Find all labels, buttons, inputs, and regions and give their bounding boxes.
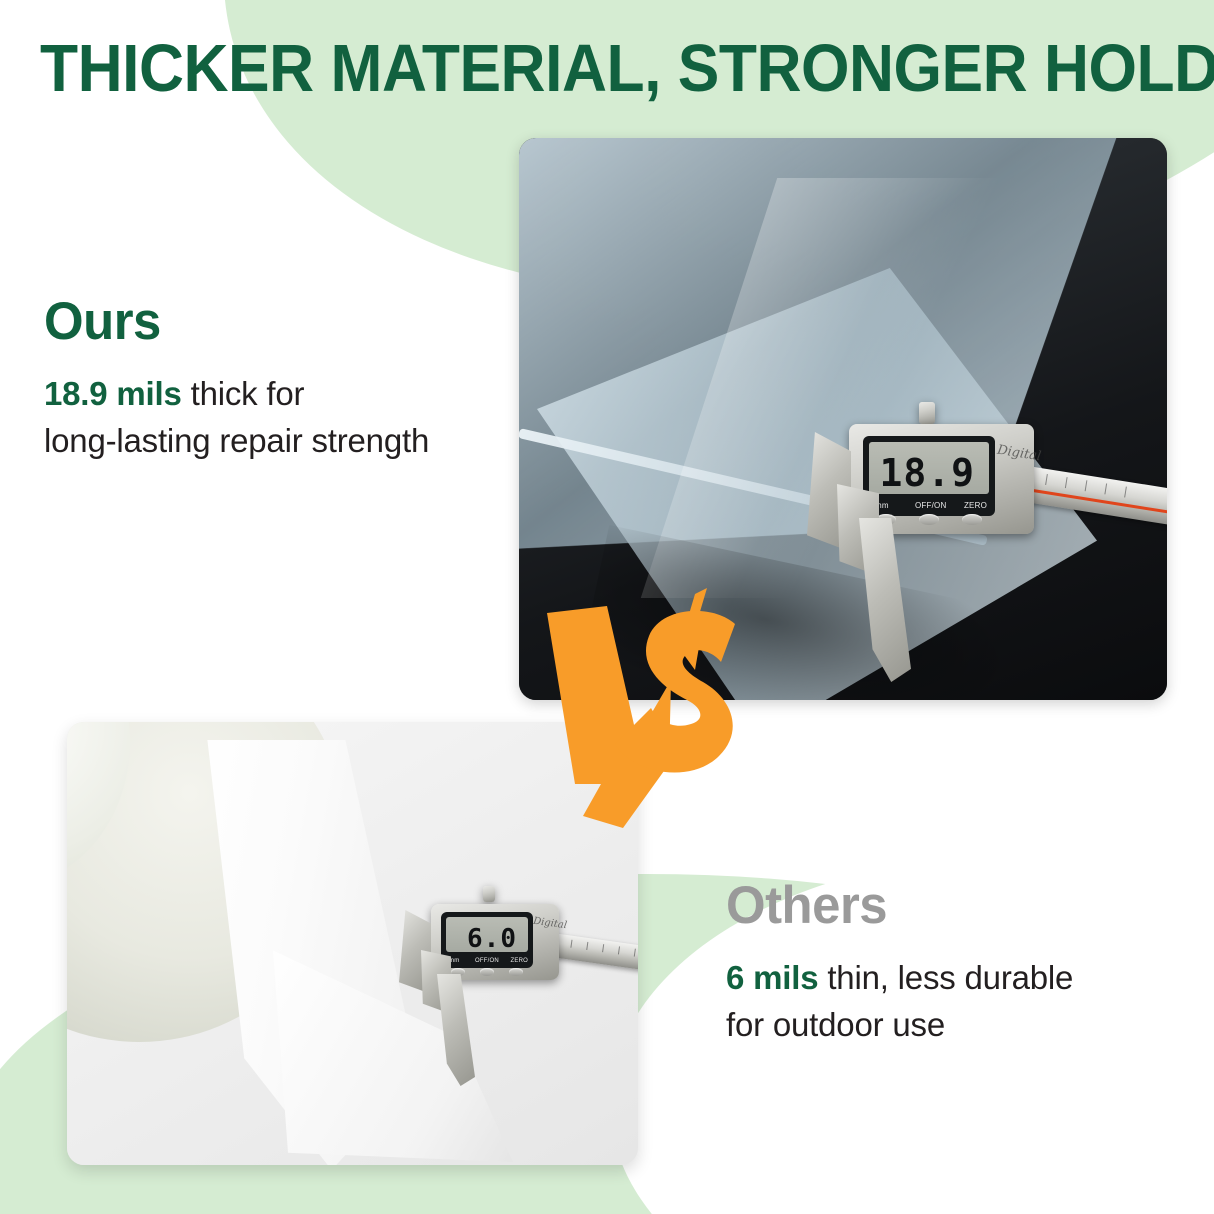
others-thickness-value: 6 mils — [726, 959, 818, 996]
caliper-button-onoff — [480, 968, 494, 976]
caliper-button-zero — [962, 514, 982, 525]
caliper-scale-tick — [618, 946, 620, 954]
caliper-button-label-zero: ZERO — [511, 958, 528, 964]
page-title: THICKER MATERIAL, STRONGER HOLD — [40, 32, 1100, 106]
caliper-lcd-bezel: 18.9 mm OFF/ON ZERO — [863, 436, 995, 516]
infographic-canvas: THICKER MATERIAL, STRONGER HOLD — [0, 0, 1214, 1214]
vs-letter-s-icon — [615, 611, 735, 773]
vs-badge: VS — [545, 588, 750, 828]
others-description-line1-rest: thin, less durable — [818, 959, 1073, 996]
ours-description-line2: long-lasting repair strength — [44, 422, 429, 459]
caliper-measuring-blade — [437, 974, 475, 1086]
caliper-reading-bottom: 6.0 — [467, 922, 517, 957]
caliper-button-label-onoff: OFF/ON — [475, 958, 499, 964]
tape-roll-core — [67, 722, 130, 887]
caliper-button-onoff — [919, 514, 939, 525]
ours-comparison-block: Ours 18.9 mils thick for long-lasting re… — [44, 292, 514, 464]
caliper-scale-tick — [570, 940, 572, 948]
caliper-scale-tick — [602, 944, 604, 952]
caliper-measuring-blade — [859, 518, 911, 682]
caliper-scale-tick — [586, 942, 588, 950]
ours-heading: Ours — [44, 292, 495, 352]
caliper-scale-tick — [1065, 477, 1068, 488]
caliper-button-label-onoff: OFF/ON — [915, 501, 946, 510]
caliper-scale-tick — [1124, 487, 1127, 498]
digital-caliper-top: 18.9 mm OFF/ON ZERO Digital — [801, 388, 1167, 700]
ours-thickness-value: 18.9 mils — [44, 375, 182, 412]
caliper-reading-top: 18.9 — [879, 447, 975, 499]
caliper-scale-tick — [1045, 474, 1048, 485]
digital-caliper-bottom: 6.0 mm OFF/ON ZERO Digital — [397, 882, 638, 1082]
ours-description: 18.9 mils thick for long-lasting repair … — [44, 370, 514, 464]
caliper-scale-tick — [634, 949, 636, 957]
ours-description-line1-rest: thick for — [182, 375, 305, 412]
caliper-button-label-zero: ZERO — [964, 501, 987, 510]
caliper-thumb-screw — [483, 886, 495, 902]
others-description-line2: for outdoor use — [726, 1006, 945, 1043]
caliper-scale-tick — [1085, 480, 1088, 491]
others-heading: Others — [726, 876, 1158, 936]
others-description: 6 mils thin, less durable for outdoor us… — [726, 954, 1176, 1048]
caliper-scale-tick — [1104, 483, 1107, 494]
caliper-red-stripe — [1027, 488, 1167, 514]
caliper-thumb-screw — [919, 402, 935, 424]
caliper-button-zero — [509, 968, 523, 976]
others-comparison-block: Others 6 mils thin, less durable for out… — [726, 876, 1176, 1048]
caliper-lcd-bezel: 6.0 mm OFF/ON ZERO — [441, 912, 533, 968]
